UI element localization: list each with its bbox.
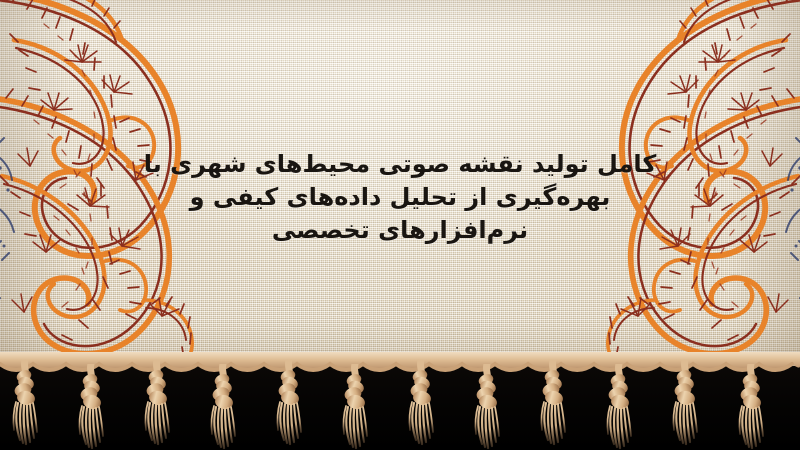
tassel [404,360,438,448]
tassel [668,360,702,448]
tassel [140,360,174,448]
tassel [602,364,636,450]
tassel-fringe [0,360,800,450]
tassel [470,364,504,450]
tassel [206,364,240,450]
tassel [734,364,768,450]
tassel [536,360,570,448]
tassel [8,360,42,448]
paisley-embroidery-right-icon [506,0,800,372]
slide-canvas: کامل تولید نقشه صوتی محیط‌های شهری با به… [0,0,800,450]
tassel [74,364,108,450]
tassel [338,364,372,450]
tassel [272,360,306,448]
paisley-embroidery-left-icon [0,0,294,372]
